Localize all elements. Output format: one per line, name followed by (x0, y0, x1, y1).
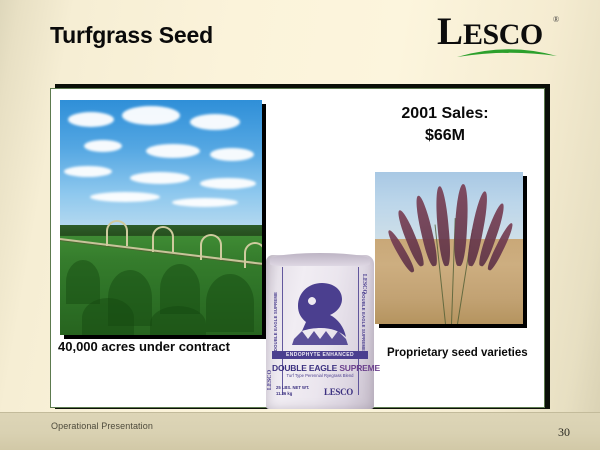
sales-value: $66M (360, 125, 530, 147)
eagle-icon (288, 279, 354, 345)
logo-swoosh-icon (457, 45, 557, 59)
cloud-shape (200, 178, 256, 189)
irrigation-arch (106, 220, 128, 246)
field-photo-caption: 40,000 acres under contract (58, 339, 230, 354)
bag-weight-lbs: 25 LBS. NET WT. (276, 385, 309, 391)
irrigation-arch (244, 242, 262, 268)
bag-weight-kg: 11.36 kg (276, 391, 309, 397)
plant-photo-caption: Proprietary seed varieties (387, 347, 528, 359)
page-number: 30 (558, 425, 570, 440)
presentation-slide: Turfgrass Seed LESCO ® (0, 0, 600, 450)
irrigation-arch (200, 234, 222, 260)
bag-lesco-logo: LESCO (324, 387, 353, 397)
sales-label: 2001 Sales: (360, 103, 530, 125)
grass-tuft (66, 260, 100, 304)
bag-net-weight: 25 LBS. NET WT. 11.36 kg (276, 385, 309, 396)
cloud-shape (68, 112, 114, 127)
cloud-shape (64, 166, 112, 177)
cloud-shape (146, 144, 200, 158)
bag-top-seam (270, 253, 370, 266)
cloud-shape (90, 192, 160, 202)
bag-corner-logo-right: LESCO (361, 274, 367, 294)
page-title: Turfgrass Seed (50, 22, 213, 49)
footer-label: Operational Presentation (51, 421, 153, 431)
bag-brand-main: DOUBLE EAGLE (272, 363, 337, 373)
cloud-shape (84, 140, 122, 152)
sales-callout: 2001 Sales: $66M (360, 103, 530, 146)
seed-bag-image: DOUBLE EAGLE SUPREME DOUBLE EAGLE SUPREM… (262, 253, 380, 411)
plant-photo (375, 172, 523, 324)
bag-brand-supreme: SUPREME (339, 363, 380, 373)
registered-trademark-icon: ® (553, 15, 559, 24)
cloud-shape (130, 172, 190, 184)
cloud-shape (122, 106, 180, 125)
bag-subtitle: Turf Type Perennial Ryegrass Blend (272, 373, 368, 378)
bag-endophyte-banner: ENDOPHYTE ENHANCED (272, 351, 368, 359)
grass-tuft (206, 274, 254, 332)
grass-tuft (82, 298, 134, 335)
grass-tuft (150, 306, 206, 335)
cloud-shape (172, 198, 238, 207)
footer-band (0, 413, 600, 450)
bag-brand-name: DOUBLE EAGLE SUPREME (272, 363, 368, 373)
cloud-shape (210, 148, 254, 161)
lesco-logo: LESCO ® (437, 12, 562, 60)
field-photo (60, 100, 262, 335)
bag-side-text-left: DOUBLE EAGLE SUPREME (273, 292, 278, 351)
cloud-shape (190, 114, 240, 130)
irrigation-arch (152, 226, 174, 252)
bag-side-text-right: DOUBLE EAGLE SUPREME (361, 292, 366, 351)
